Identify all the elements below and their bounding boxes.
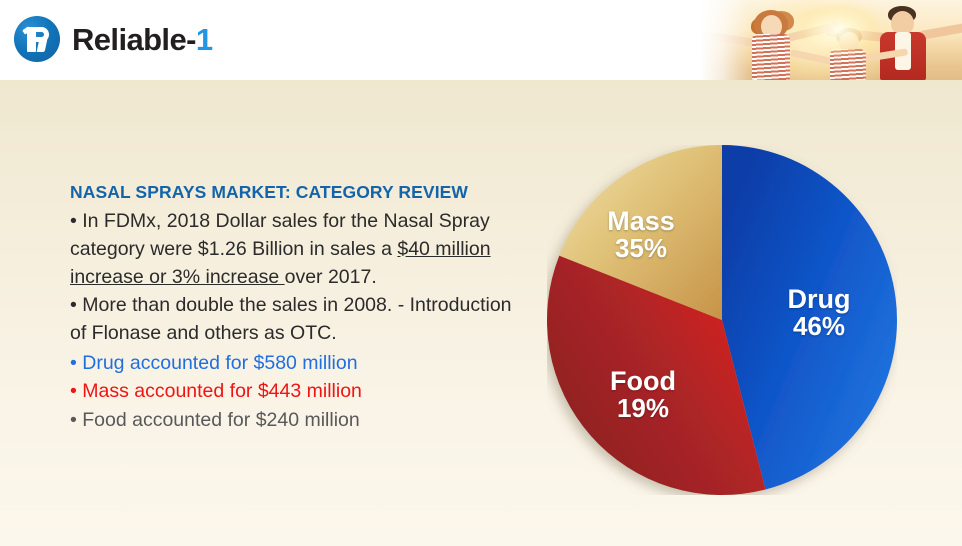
brand-name: Reliable-1 (72, 24, 212, 55)
family-at-sunset-photo (700, 0, 962, 80)
brand-name-accent: 1 (196, 22, 213, 57)
paragraph-two: • More than double the sales in 2008. - … (70, 292, 530, 347)
pie-svg (547, 145, 897, 495)
page-title: NASAL SPRAYS MARKET: CATEGORY REVIEW (70, 182, 530, 202)
bullet-mass: • Mass accounted for $443 million (70, 377, 530, 406)
slide-canvas: Reliable-1 (0, 0, 962, 546)
paragraph-one-suffix: over 2017. (285, 266, 377, 288)
category-share-pie-chart: Drug 46% Mass 35% Food 19% (547, 145, 897, 495)
logo-r-leg (37, 39, 48, 52)
copy-column: NASAL SPRAYS MARKET: CATEGORY REVIEW • I… (70, 182, 530, 435)
pie-slice-group (547, 145, 897, 495)
child-striped-shirt (830, 49, 866, 80)
brand-name-main: Reliable- (72, 22, 196, 57)
child-right-arm (860, 48, 909, 62)
photo-left-fade (700, 0, 752, 80)
mother-striped-shirt (752, 34, 790, 80)
photo-figure-child (796, 28, 904, 80)
header-bar: Reliable-1 (0, 0, 962, 80)
paragraph-one: • In FDMx, 2018 Dollar sales for the Nas… (70, 208, 530, 291)
bullet-food: • Food accounted for $240 million (70, 406, 530, 435)
father-right-arm (920, 21, 962, 40)
bullet-drug: • Drug accounted for $580 million (70, 349, 530, 378)
reliable-one-circle-logo-icon (14, 16, 60, 62)
brand-logo[interactable]: Reliable-1 (14, 16, 212, 62)
